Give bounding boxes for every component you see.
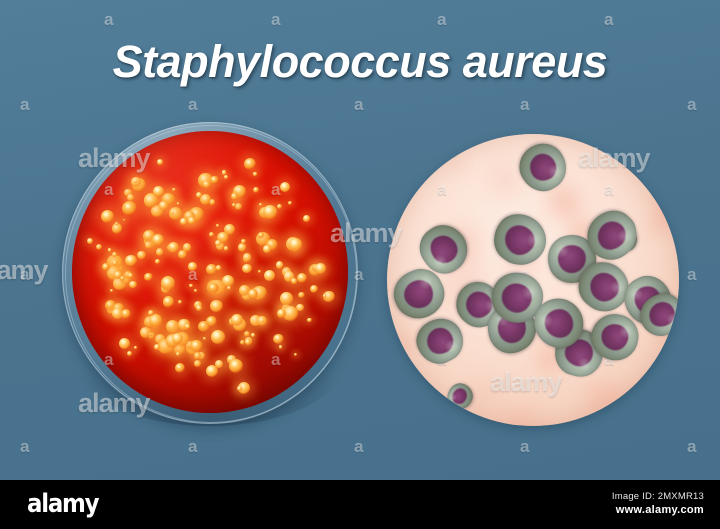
alamy-watermark-glyph: a <box>604 10 613 30</box>
alamy-watermark-glyph: a <box>520 437 529 457</box>
alamy-watermark-glyph: a <box>437 10 446 30</box>
alamy-watermark-glyph: a <box>188 437 197 457</box>
staphylococcus-cell <box>410 311 471 371</box>
alamy-watermark-glyph: a <box>20 437 29 457</box>
alamy-watermark-glyph: a <box>687 265 696 285</box>
staphylococcus-cell <box>511 135 575 199</box>
alamy-watermark-glyph: a <box>520 95 529 115</box>
alamy-watermark-glyph: a <box>687 95 696 115</box>
alamy-url-label[interactable]: www.alamy.com <box>612 503 704 518</box>
petri-dish <box>62 122 358 424</box>
staphylococcus-cell <box>484 204 555 275</box>
photograph-area: Staphylococcus aureus aaaaaaaaaaaaaaaaaa… <box>0 0 720 480</box>
petri-dish-inner-rim <box>65 125 357 423</box>
alamy-footer-bar: alamy Image ID: 2MXMR13 www.alamy.com <box>0 480 720 529</box>
page-title: Staphylococcus aureus <box>0 36 720 88</box>
alamy-logo: alamy <box>27 491 98 517</box>
alamy-watermark-glyph: a <box>271 10 280 30</box>
image-canvas: Staphylococcus aureus aaaaaaaaaaaaaaaaaa… <box>0 0 720 529</box>
cocci-cell-layer <box>387 134 679 426</box>
alamy-watermark-glyph: a <box>188 95 197 115</box>
alamy-watermark-glyph: a <box>104 10 113 30</box>
alamy-watermark-word: alamy <box>0 255 48 286</box>
micrograph-circle <box>387 134 679 426</box>
alamy-watermark-glyph: a <box>20 265 29 285</box>
alamy-watermark-glyph: a <box>687 437 696 457</box>
staphylococcus-cell <box>443 379 477 414</box>
alamy-watermark-glyph: a <box>20 95 29 115</box>
alamy-watermark-glyph: a <box>354 437 363 457</box>
image-id-label: Image ID: 2MXMR13 <box>612 490 704 503</box>
footer-meta: Image ID: 2MXMR13 www.alamy.com <box>612 490 704 518</box>
alamy-watermark-glyph: a <box>354 95 363 115</box>
